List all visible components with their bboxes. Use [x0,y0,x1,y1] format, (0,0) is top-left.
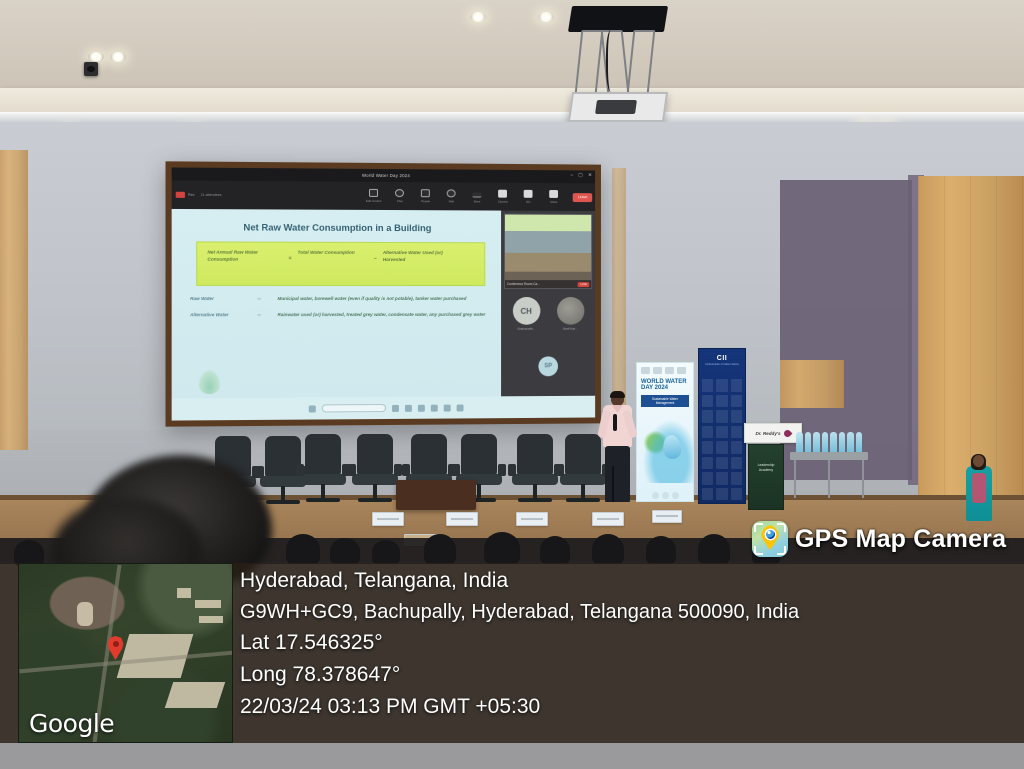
participant-entry[interactable]: Sunil Kum... [551,297,590,331]
chat-icon [395,189,404,197]
banner-logo-row [637,363,693,374]
projector-cable [606,30,618,92]
participant-video-tile[interactable]: Conference Room Ca... LIVE [504,214,592,290]
microphone-icon [524,190,533,198]
maximize-icon[interactable]: ▢ [578,173,583,178]
edge-icon[interactable] [417,404,424,411]
footer-logo-icon [672,492,679,499]
water-bottle [830,432,837,454]
toolbar-label: Edit Content [366,199,381,203]
explorer-icon[interactable] [404,404,411,411]
location-place: Hyderabad, Telangana, India [240,566,1020,596]
presenter-hair [610,391,625,398]
ceiling-spotlight [88,52,104,62]
cii-banner: CII Confederation of Indian Industry [698,348,746,504]
wood-wall-panel [0,150,28,450]
leave-meeting-button[interactable]: Leave [573,193,592,202]
definition-key: Alternative Water [190,312,253,319]
toolbar-label: Chat [397,199,403,203]
live-badge: LIVE [578,282,589,287]
task-view-icon[interactable] [391,404,398,411]
projection-screen-frame: World Water Day 2024 – ▢ ✕ Rec 11 attend… [166,161,601,426]
sponsor-logo-icon [677,367,686,374]
location-details: Hyderabad, Telangana, India G9WH+GC9, Ba… [240,566,1020,722]
avatar-name: Chakravarthi... [517,327,535,331]
record-dot-icon [176,192,185,198]
water-drop-watermark-icon [198,370,220,394]
name-placard [652,510,682,523]
banner-title-line1: WORLD WATER [637,374,693,385]
formula-term-2: Total Water Consumption [298,250,368,257]
toolbar-label: Share [550,200,557,204]
toolbar-item-edit-content[interactable]: Edit Content [364,189,383,203]
toolbar-item-chat[interactable]: Chat [390,189,409,203]
footer-logo-icon [652,492,659,499]
audience-head [286,534,320,564]
side-table [790,452,868,460]
location-timestamp: 22/03/24 03:13 PM GMT +05:30 [240,692,1020,722]
start-icon[interactable] [308,405,315,412]
participant-name: Conference Room Ca... [507,282,540,286]
sponsor-logo-icon [665,367,674,374]
podium-label: Leadership Academy [749,445,783,473]
edit-content-icon [369,189,378,197]
definition-value: Municipal water, borewell water (even if… [277,296,489,303]
water-bottle [813,432,820,454]
name-placard [446,512,478,526]
banner-title-line2: DAY 2024 [637,385,693,391]
toolbar-item-more[interactable]: More [468,193,487,204]
map-building [177,588,191,598]
ceiling-spotlight [538,12,554,22]
toolbar-label: Camera [498,199,508,203]
projector-lens [595,100,637,114]
name-placard [592,512,624,526]
projection-screen: World Water Day 2024 – ▢ ✕ Rec 11 attend… [172,167,595,420]
avatar [557,297,584,325]
footer-logo-icon [662,492,669,499]
participant-entry[interactable]: CH Chakravarthi... [506,297,545,331]
toolbar-label: People [421,199,430,203]
toolbar-label: Mail [449,199,454,203]
audience-head [698,534,730,564]
map-building [199,616,223,623]
recording-label: Rec [188,193,195,197]
water-bottle [805,432,812,454]
banner-footer-logos [637,492,693,499]
ceiling-soffit [0,88,1024,114]
teams-icon[interactable] [430,404,437,411]
audience-head [372,540,400,564]
camera-icon [498,190,507,198]
toolbar-item-people[interactable]: People [416,189,435,203]
water-bottle [839,432,846,454]
participant-entry[interactable]: SP [504,356,592,376]
water-bottle [856,432,863,454]
people-icon [421,189,430,197]
podium: Leadership Academy [748,444,784,510]
projector-mount-plate [568,6,668,32]
toolbar-item-mic[interactable]: Mic [519,190,538,203]
video-feed [505,215,591,289]
audience-head [592,534,624,564]
formula-operator-1: = [289,250,292,262]
search-input[interactable] [321,404,385,412]
name-placard [516,512,548,526]
presenter [600,392,634,504]
audience-head [646,536,676,564]
cii-logo: CII [699,349,745,362]
formula-term-1: Net Annual Raw Water Consumption [207,250,282,264]
participant-avatars: CH Chakravarthi... Sunil Kum... [504,297,592,331]
gps-pin-eye-icon [752,521,788,557]
water-bottle [822,432,829,454]
toolbar-item-camera[interactable]: Camera [493,190,512,204]
map-pin-shape [761,525,780,550]
avatar: CH [512,297,540,325]
ceiling-light-cove [0,112,1024,122]
sponsor-sign: Dr. Reddy's [744,423,802,443]
eye-icon [764,528,776,540]
slide-title: Net Raw Water Consumption in a Building [172,221,501,233]
ceiling-camera-icon [84,62,98,76]
attendee-head [973,455,984,467]
more-icon [473,193,482,198]
toolbar-label: More [474,199,480,203]
cii-logo-grid [702,379,742,500]
water-bottle [847,432,854,454]
audience-head [424,534,456,564]
sponsor-logo-icon [641,367,650,374]
toolbar-label: Mic [526,200,530,204]
toolbar-item-mail[interactable]: Mail [442,190,461,204]
share-screen-icon [549,190,558,198]
wood-wall-panel [780,360,844,408]
zoom-toolbar: Rec 11 attendees Edit Content Chat Peopl… [172,181,595,211]
sponsor-logo-icon [782,428,792,438]
attendee-dupatta [972,473,986,503]
audience-head [540,536,570,564]
slide-formula-box: Net Annual Raw Water Consumption = Total… [196,241,485,286]
presenter-leg-gap [612,466,614,502]
formula-term-3: Alternative Water Used (or) Harvested [383,250,465,264]
zoom-toolbar-actions: Edit Content Chat People Mail [364,189,592,204]
mail-icon [447,190,456,198]
definition-row: Raw Water ⇨ Municipal water, borewell wa… [190,296,489,303]
location-address: G9WH+GC9, Bachupally, Hyderabad, Telanga… [240,598,1020,626]
attendees-count: 11 attendees [201,193,222,197]
location-latitude: Lat 17.546325° [240,628,1020,658]
world-water-day-banner: WORLD WATER DAY 2024 Sustainable Water M… [636,362,694,502]
zoom-window-title: World Water Day 2024 [362,173,410,178]
photo-canvas: World Water Day 2024 – ▢ ✕ Rec 11 attend… [0,0,1024,769]
zoom-participants-panel: Conference Room Ca... LIVE CH Chakravart… [501,211,595,397]
audience-head [484,532,520,564]
recording-indicator: Rec [176,192,195,198]
name-placard [372,512,404,526]
arrow-icon: ⇨ [257,312,273,319]
banner-artwork [637,411,693,483]
center-table [396,480,476,510]
close-icon[interactable]: ✕ [588,173,592,178]
ceiling-spotlight [470,12,486,22]
definition-row: Alternative Water ⇨ Rainwater used (or) … [190,312,489,319]
slide-definitions: Raw Water ⇨ Municipal water, borewell wa… [190,296,489,328]
sponsor-name: Dr. Reddy's [755,431,780,436]
water-drop-icon [662,435,682,461]
location-longitude: Long 78.378647° [240,660,1020,690]
wood-grain [918,176,1024,498]
store-icon[interactable] [456,404,463,411]
google-attribution: Google [29,709,114,738]
formula-operator-2: – [374,250,377,262]
gps-app-name: GPS Map Camera [795,525,1006,554]
banner-subtitle: Sustainable Water Management [641,395,689,407]
attendee-standing [966,455,992,521]
wood-wall-panel [918,176,1024,498]
map-building [195,600,221,608]
water-bottle [796,432,803,454]
cii-subtitle: Confederation of Indian Industry [699,362,745,367]
definition-key: Raw Water [190,296,253,303]
window-controls[interactable]: – ▢ ✕ [570,173,592,178]
avatar-name: Sunil Kum... [563,327,578,331]
gps-map-camera-watermark: GPS Map Camera [752,521,1006,557]
arrow-icon: ⇨ [257,296,273,303]
outlook-icon[interactable] [443,404,450,411]
avatar: SP [538,356,558,376]
map-building [77,602,93,626]
ceiling-spotlight [110,52,126,62]
side-table-legs [794,460,864,498]
windows-taskbar [172,396,595,421]
water-bottles [796,428,862,454]
microphone-icon [613,414,617,431]
tile-caption: Conference Room Ca... LIVE [505,280,591,288]
map-building [165,682,225,708]
minimize-icon[interactable]: – [570,173,573,178]
definition-value: Rainwater used (or) harvested, treated g… [277,312,489,319]
audience-head [330,538,360,564]
presenter-trousers [605,446,630,502]
map-pin-icon [107,636,124,660]
sponsor-logo-icon [653,367,662,374]
presentation-slide: Net Raw Water Consumption in a Building … [172,209,501,398]
map-thumbnail[interactable]: Google [18,563,233,743]
toolbar-item-share[interactable]: Share [545,190,564,203]
